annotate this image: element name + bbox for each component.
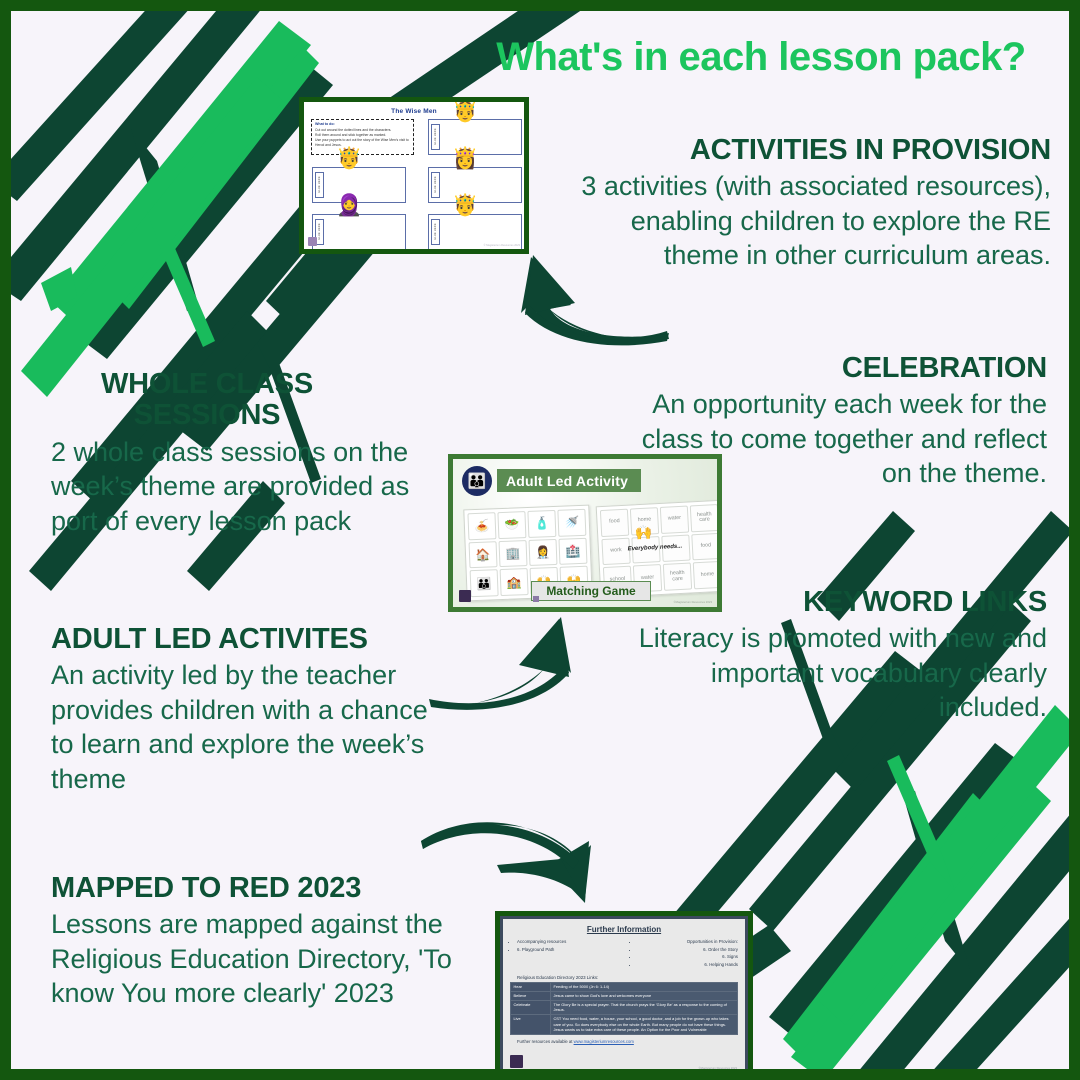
left-bullet-column: Accompanying resources 6. Playground Pat… — [510, 939, 617, 970]
right-bullet-column: Opportunities in Provision: 6. Order the… — [631, 939, 738, 970]
word-card: home — [693, 561, 722, 589]
table-value: The Glory Be is a special prayer. That t… — [551, 1000, 738, 1014]
glue-label: GLUE HERE — [315, 172, 324, 198]
worksheet-instruction-box: What to do: Cut out around the dotted li… — [311, 119, 414, 155]
slide-title: Adult Led Activity — [497, 469, 641, 492]
glue-label: GLUE HERE — [431, 172, 440, 198]
table-row: Live CST You need food, water, a house, … — [511, 1014, 738, 1034]
word-card: health care — [690, 504, 719, 532]
resources-link[interactable]: www.magisteriumresources.com — [574, 1039, 634, 1044]
picture-card: 🧴 — [527, 510, 556, 538]
word-card: health care — [663, 563, 692, 591]
picture-card: 🏠 — [469, 541, 498, 569]
red-links-table: Hear Feeding of the 5000 (Jn 6: 1-14) Be… — [510, 982, 738, 1035]
slide-canvas: 👪 Adult Led Activity 🍝 🥗 🧴 🚿 🏠 🏢 👩‍⚕️ 🏥 … — [453, 459, 717, 607]
wise-men-thumbnail[interactable]: The Wise Men What to do: Cut out around … — [299, 97, 529, 254]
puppet-card: GLUE HERE — [312, 214, 406, 250]
glue-label: GLUE HERE — [431, 219, 440, 245]
bullet-item: 6. Signs — [638, 954, 738, 960]
footer-prefix: Further resources available at — [517, 1039, 574, 1044]
instruction-line: Use your puppets to act out the story of… — [315, 138, 410, 148]
bullet-item: 6. Playground Path — [517, 947, 617, 953]
decorative-square — [533, 596, 539, 602]
arrow-up-left-icon — [511, 247, 671, 347]
picture-card: 🥗 — [497, 511, 526, 539]
table-value: Jesus came to show God's love and welcom… — [551, 991, 738, 1000]
picture-card: 🚿 — [557, 509, 586, 537]
matching-game-label: Matching Game — [531, 581, 651, 601]
figure-wise-man-green: 🤴 — [452, 101, 478, 122]
word-card: water — [660, 506, 689, 534]
section-heading: ADULT LED ACTIVITES — [51, 624, 451, 655]
bullet-columns: Accompanying resources 6. Playground Pat… — [510, 939, 738, 970]
picture-card: 🍝 — [467, 512, 496, 540]
page-title: What's in each lesson pack? — [441, 35, 1080, 79]
publisher-logo — [510, 1055, 523, 1068]
figure-king-herod: 👸 — [452, 148, 478, 169]
worksheet-title: The Wise Men — [310, 108, 518, 115]
table-value: CST You need food, water, a house, your … — [551, 1014, 738, 1034]
bullet-item: Accompanying resources — [517, 939, 617, 945]
bullet-item: 6. Order the Story — [638, 947, 738, 953]
section-whole-class-sessions: WHOLE CLASS SESSIONS 2 whole class sessi… — [51, 369, 451, 538]
table-key: Celebrate — [511, 1000, 551, 1014]
section-body: 2 whole class sessions on the week’s the… — [51, 435, 451, 539]
picture-card: 👩‍⚕️ — [528, 539, 557, 567]
section-heading: ACTIVITIES IN PROVISION — [571, 135, 1051, 166]
praying-hands-icon: 🙌 — [635, 525, 653, 540]
bullet-item: 6. Helping Hands — [638, 962, 738, 968]
picture-card: 🏥 — [558, 537, 587, 565]
slide-title: Further Information — [510, 925, 738, 934]
arrow-down-right-icon — [409, 811, 609, 911]
figure-wise-man-red: 🤴 — [336, 148, 362, 169]
bullet-heading: Opportunities in Provision: — [638, 939, 738, 945]
glue-label: GLUE HERE — [431, 124, 440, 150]
adult-led-thumbnail[interactable]: 👪 Adult Led Activity 🍝 🥗 🧴 🚿 🏠 🏢 👩‍⚕️ 🏥 … — [448, 454, 722, 612]
section-body: Lessons are mapped against the Religious… — [51, 907, 491, 1011]
word-card: food — [600, 509, 629, 537]
section-adult-led-activities: ADULT LED ACTIVITES An activity led by t… — [51, 624, 451, 797]
credit-text: © Magisterium Resources 2023 — [484, 244, 520, 247]
figure-mary-and-jesus: 🧕 — [336, 195, 362, 216]
table-value: Feeding of the 5000 (Jn 6: 1-14) — [551, 982, 738, 991]
table-key: Believe — [511, 991, 551, 1000]
instruction-heading: What to do: — [315, 122, 410, 126]
worksheet-sheet: The Wise Men What to do: Cut out around … — [304, 102, 524, 249]
family-badge-icon: 👪 — [462, 466, 492, 496]
publisher-logo — [308, 237, 317, 246]
section-heading: WHOLE CLASS SESSIONS — [51, 369, 451, 432]
table-row: Celebrate The Glory Be is a special pray… — [511, 1000, 738, 1014]
infographic-page: What's in each lesson pack? ACTIVITIES I… — [0, 0, 1080, 1080]
credit-text: ©Magisterium Resources 2023 — [674, 600, 712, 604]
links-heading: Religious Education Directory 2023 Links… — [510, 975, 738, 980]
picture-card: 🏢 — [499, 540, 528, 568]
table-row: Hear Feeding of the 5000 (Jn 6: 1-14) — [511, 982, 738, 991]
further-information-thumbnail[interactable]: Further Information Accompanying resourc… — [495, 911, 753, 1080]
section-heading: CELEBRATION — [627, 353, 1047, 384]
arrow-up-right-icon — [427, 611, 577, 711]
section-body: An activity led by the teacher provides … — [51, 658, 451, 796]
table-key: Hear — [511, 982, 551, 991]
footer-line: Further resources available at www.magis… — [510, 1039, 738, 1044]
publisher-logo — [459, 590, 471, 602]
table-row: Believe Jesus came to show God's love an… — [511, 991, 738, 1000]
slide-canvas: Further Information Accompanying resourc… — [503, 919, 745, 1075]
picture-card: 👪 — [470, 570, 499, 598]
figure-wise-man-purple: 🤴 — [452, 195, 478, 216]
table-key: Live — [511, 1014, 551, 1034]
credit-text: ©Magisterium Resources 2023 — [699, 1066, 737, 1070]
section-body: Literacy is promoted with new and import… — [597, 621, 1047, 725]
picture-card: 🏫 — [500, 568, 529, 596]
